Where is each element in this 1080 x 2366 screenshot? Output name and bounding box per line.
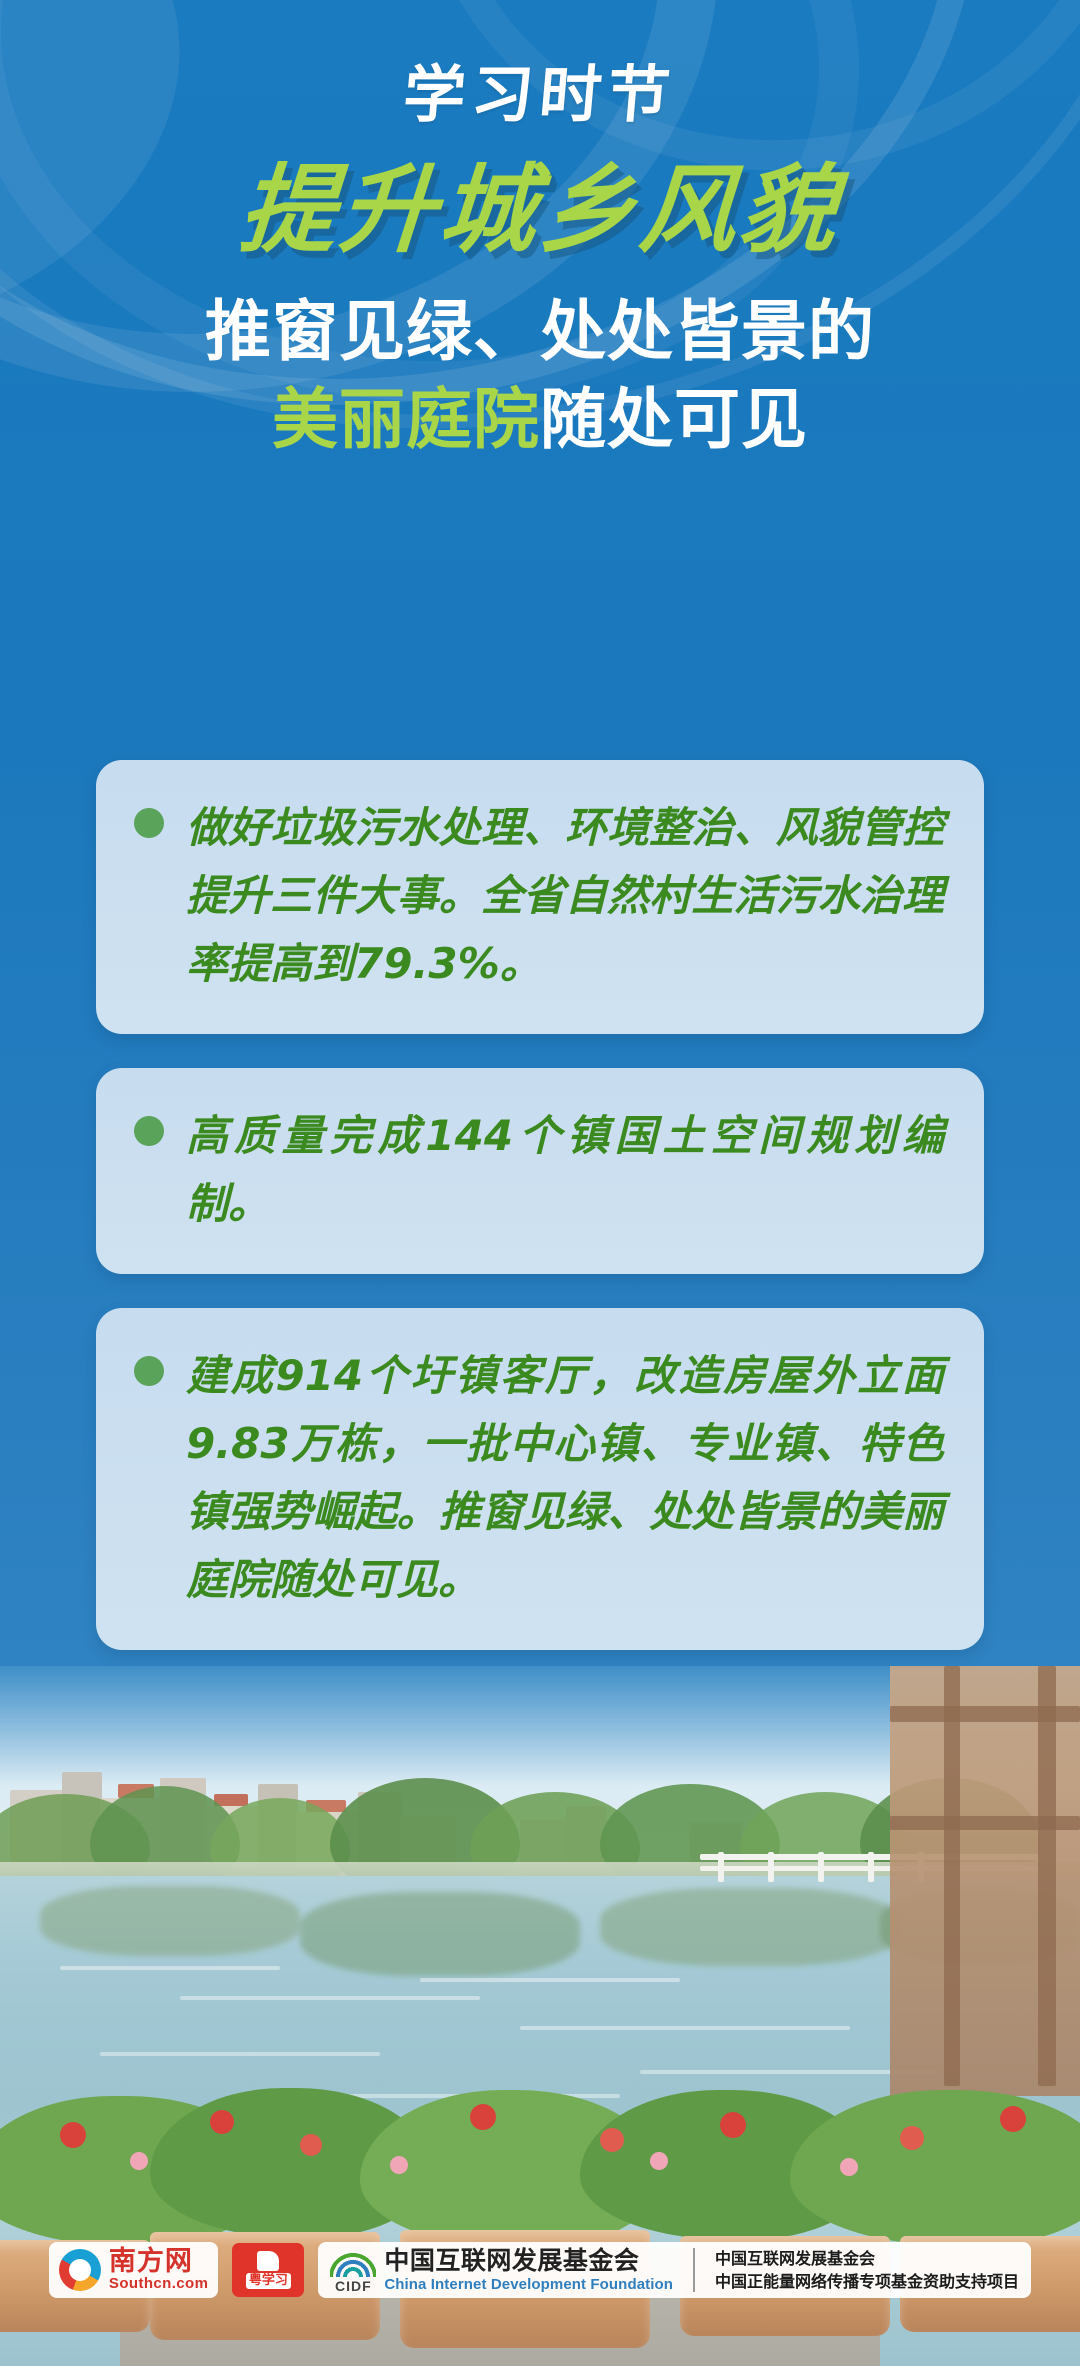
footer-divider [693, 2248, 695, 2292]
flower-planters [0, 2066, 1080, 2366]
headline-line-2: 推窗见绿、处处皆景的 [0, 288, 1080, 376]
bullet-card-text: 建成914个圩镇客厅，改造房屋外立面9.83万栋，一批中心镇、专业镇、特色镇强势… [186, 1342, 944, 1614]
footer-bar: 南方网 Southcn.com 粤学习 CIDF 中国互联网发展基金会 Chin… [0, 2242, 1080, 2298]
footer-note-line-1: 中国互联网发展基金会 [715, 2247, 1019, 2270]
southcn-mark-icon [59, 2249, 101, 2291]
headline-line-3-accent: 美丽庭院 [272, 381, 540, 458]
bullet-card: 高质量完成144个镇国土空间规划编制。 [96, 1068, 984, 1274]
cidf-cn-label: 中国互联网发展基金会 [384, 2247, 673, 2276]
cidf-abbr-label: CIDF [335, 2279, 372, 2293]
green-dot-icon [134, 808, 164, 838]
yuexuexi-label: 粤学习 [246, 2273, 291, 2289]
bullet-card-text: 高质量完成144个镇国土空间规划编制。 [186, 1102, 944, 1238]
footer-note: 中国互联网发展基金会 中国正能量网络传播专项基金资助支持项目 [715, 2247, 1019, 2293]
bullet-card: 做好垃圾污水处理、环境整治、风貌管控提升三件大事。全省自然村生活污水治理率提高到… [96, 760, 984, 1034]
headline-block: 提升城乡风貌 推窗见绿、处处皆景的 美丽庭院随处可见 [0, 152, 1080, 465]
footer-note-line-2: 中国正能量网络传播专项基金资助支持项目 [715, 2270, 1019, 2293]
southcn-logo[interactable]: 南方网 Southcn.com [49, 2242, 218, 2298]
green-dot-icon [134, 1356, 164, 1386]
brand-title: 学习时节 [400, 44, 680, 134]
southcn-en-label: Southcn.com [109, 2276, 208, 2292]
cidf-wave-icon [330, 2247, 376, 2277]
cidf-en-label: China Internet Development Foundation [384, 2276, 673, 2293]
bullet-card-list: 做好垃圾污水处理、环境整治、风貌管控提升三件大事。全省自然村生活污水治理率提高到… [96, 760, 984, 1684]
brand-mark: 学习时节 [0, 44, 1080, 134]
yuexuexi-logo[interactable]: 粤学习 [232, 2243, 304, 2297]
cidf-logo[interactable]: CIDF 中国互联网发展基金会 China Internet Developme… [318, 2242, 1031, 2298]
bullet-card-text: 做好垃圾污水处理、环境整治、风貌管控提升三件大事。全省自然村生活污水治理率提高到… [186, 794, 944, 998]
poster-root: 学习时节 提升城乡风貌 推窗见绿、处处皆景的 美丽庭院随处可见 做好垃圾污水处理… [0, 0, 1080, 2366]
headline-sub: 推窗见绿、处处皆景的 美丽庭院随处可见 [0, 288, 1080, 465]
yuexuexi-mark-icon [257, 2251, 279, 2271]
headline-line-3: 美丽庭院随处可见 [0, 376, 1080, 464]
green-dot-icon [134, 1116, 164, 1146]
southcn-cn-label: 南方网 [109, 2248, 208, 2276]
headline-line-3-rest: 随处可见 [540, 381, 808, 458]
bullet-card: 建成914个圩镇客厅，改造房屋外立面9.83万栋，一批中心镇、专业镇、特色镇强势… [96, 1308, 984, 1650]
headline-main: 提升城乡风貌 [0, 152, 1080, 264]
footer-logos: 南方网 Southcn.com 粤学习 CIDF 中国互联网发展基金会 Chin… [49, 2242, 1031, 2298]
